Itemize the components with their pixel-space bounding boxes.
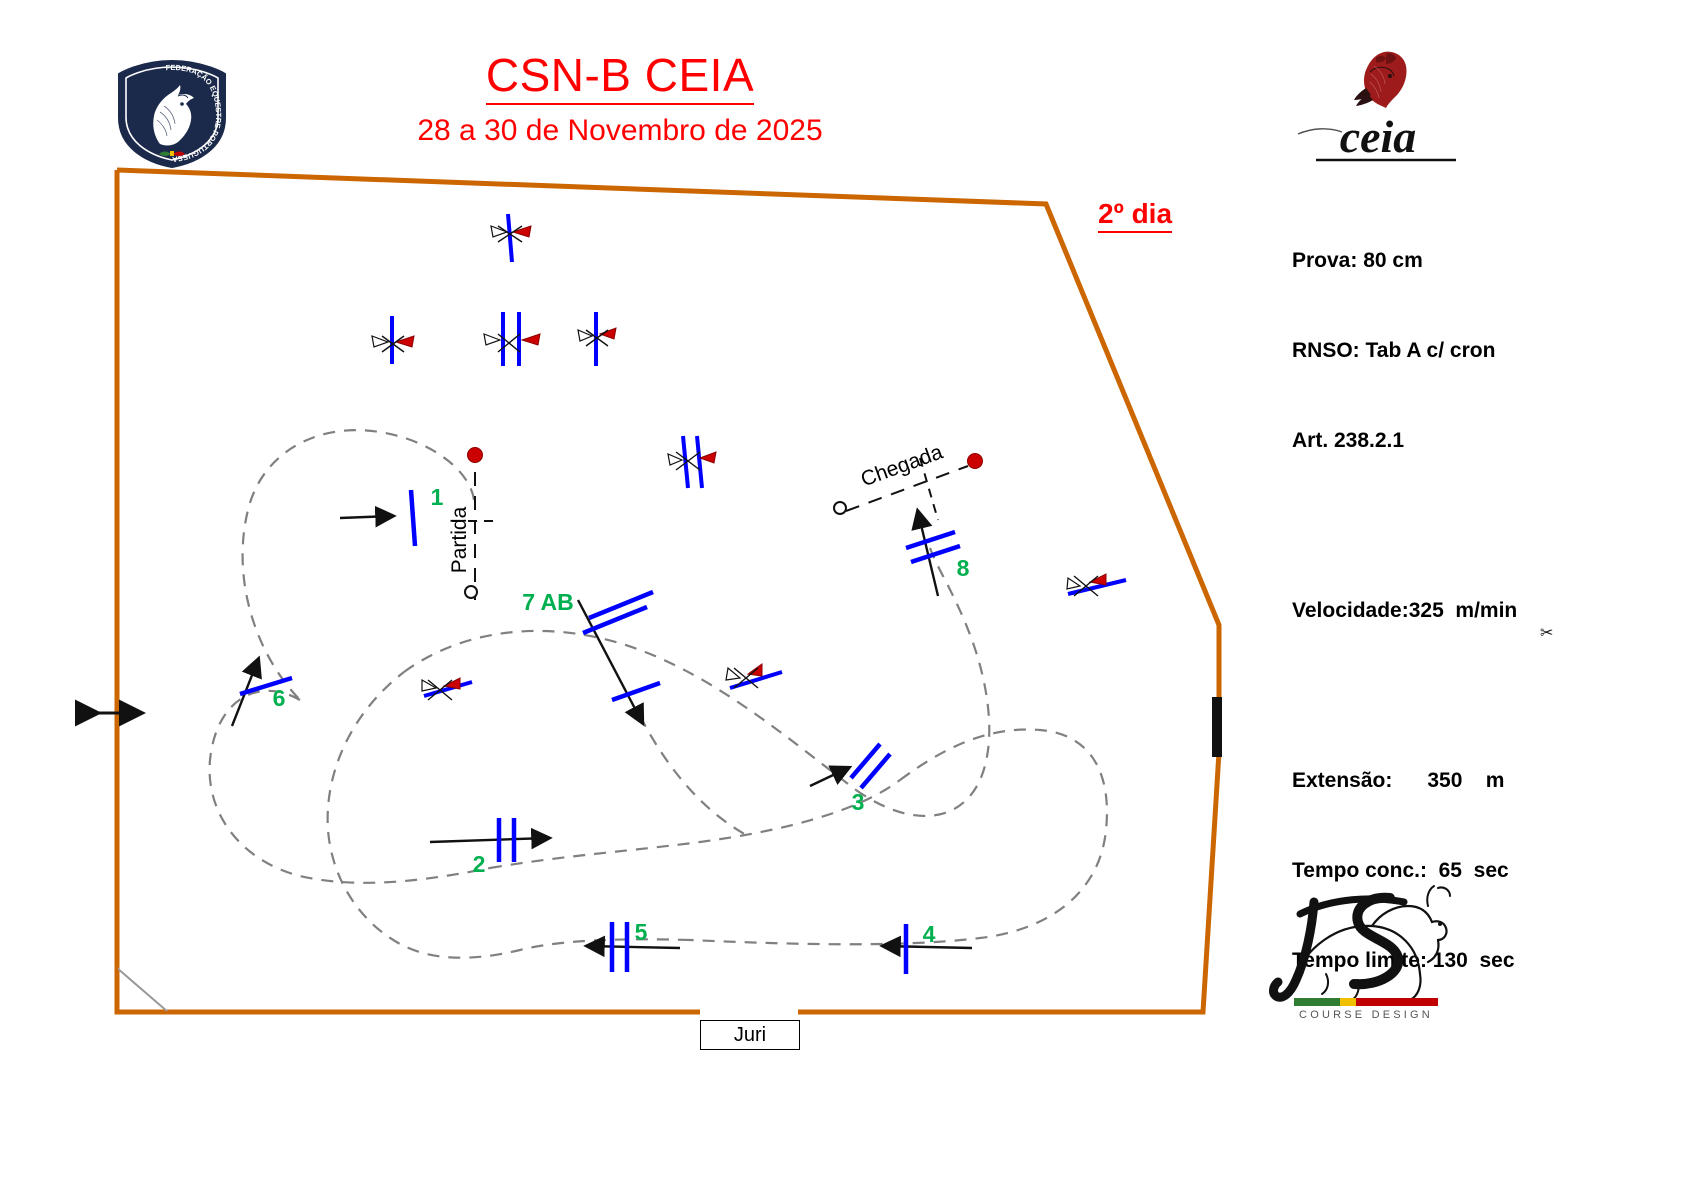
course-path bbox=[210, 430, 1107, 958]
practice-jump-5 bbox=[668, 436, 716, 488]
practice-jump-1 bbox=[491, 214, 531, 262]
practice-jump-2 bbox=[372, 316, 414, 364]
jump-6-number: 6 bbox=[273, 685, 286, 711]
start-label: Partida bbox=[448, 506, 471, 573]
corner-cut bbox=[117, 968, 168, 1012]
jump-8-number: 8 bbox=[957, 555, 970, 581]
arena-boundary bbox=[117, 170, 1219, 1012]
jump-3-number: 3 bbox=[852, 789, 865, 815]
jump-7ab-number: 7 AB bbox=[522, 589, 574, 615]
jump-2-number: 2 bbox=[473, 851, 486, 877]
arena-gate bbox=[1212, 697, 1222, 757]
edge-tick: ✂ bbox=[1540, 625, 1553, 642]
practice-jump-6 bbox=[422, 678, 472, 700]
practice-jump-4 bbox=[578, 312, 616, 366]
jump-1: 1 bbox=[411, 484, 444, 546]
practice-jump-7 bbox=[726, 664, 782, 688]
jump-8: 8 bbox=[906, 532, 970, 581]
jump-3: 3 bbox=[851, 744, 890, 815]
jump-4-number: 4 bbox=[923, 921, 936, 947]
finish-label: Chegada bbox=[858, 440, 946, 491]
start-line-partida: Partida bbox=[448, 448, 498, 601]
juri-box: Juri bbox=[700, 1020, 800, 1050]
jump-1-number: 1 bbox=[431, 484, 444, 510]
practice-jump-3 bbox=[484, 312, 540, 366]
finish-line-chegada: Chegada bbox=[834, 440, 983, 520]
jump-5-number: 5 bbox=[635, 919, 648, 945]
course-arena: Partida Chegada 1 2 3 4 5 6 bbox=[0, 0, 1683, 1190]
practice-jump-8 bbox=[1067, 574, 1126, 596]
jump-7ab: 7 AB bbox=[522, 589, 660, 700]
